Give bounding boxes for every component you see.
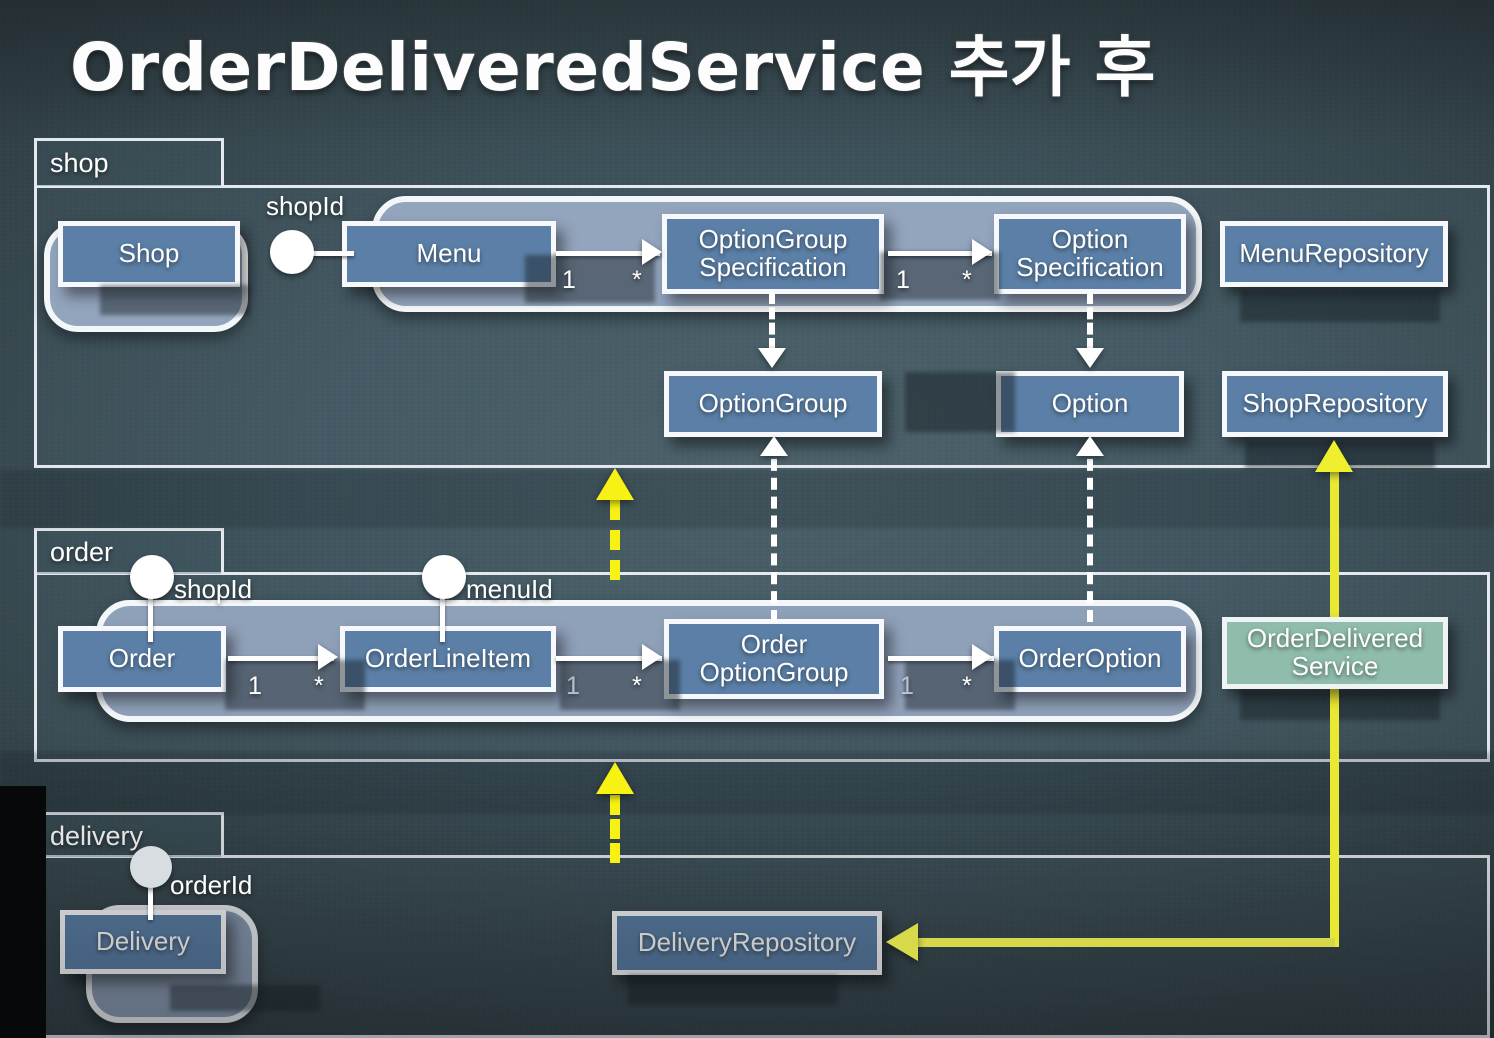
route-service-to-deliveryrepository	[918, 938, 1335, 947]
class-label-orderdeliveredservice-line2: Service	[1292, 653, 1379, 681]
arrowhead-up-shoprepository	[1315, 440, 1353, 472]
class-box-orderdeliveredservice[interactable]: OrderDelivered Service	[1222, 617, 1448, 689]
slide-canvas: OrderDeliveredService 추가 후 shop shopId	[0, 0, 1494, 1038]
page-title: OrderDeliveredService 추가 후	[70, 14, 1156, 110]
class-label-orderdeliveredservice-line1: OrderDelivered	[1247, 625, 1423, 653]
left-black-overlay	[0, 786, 46, 1038]
service-routes	[0, 0, 1494, 1038]
route-service-down	[1330, 678, 1339, 947]
arrowhead-left-deliveryrepository	[886, 923, 918, 961]
